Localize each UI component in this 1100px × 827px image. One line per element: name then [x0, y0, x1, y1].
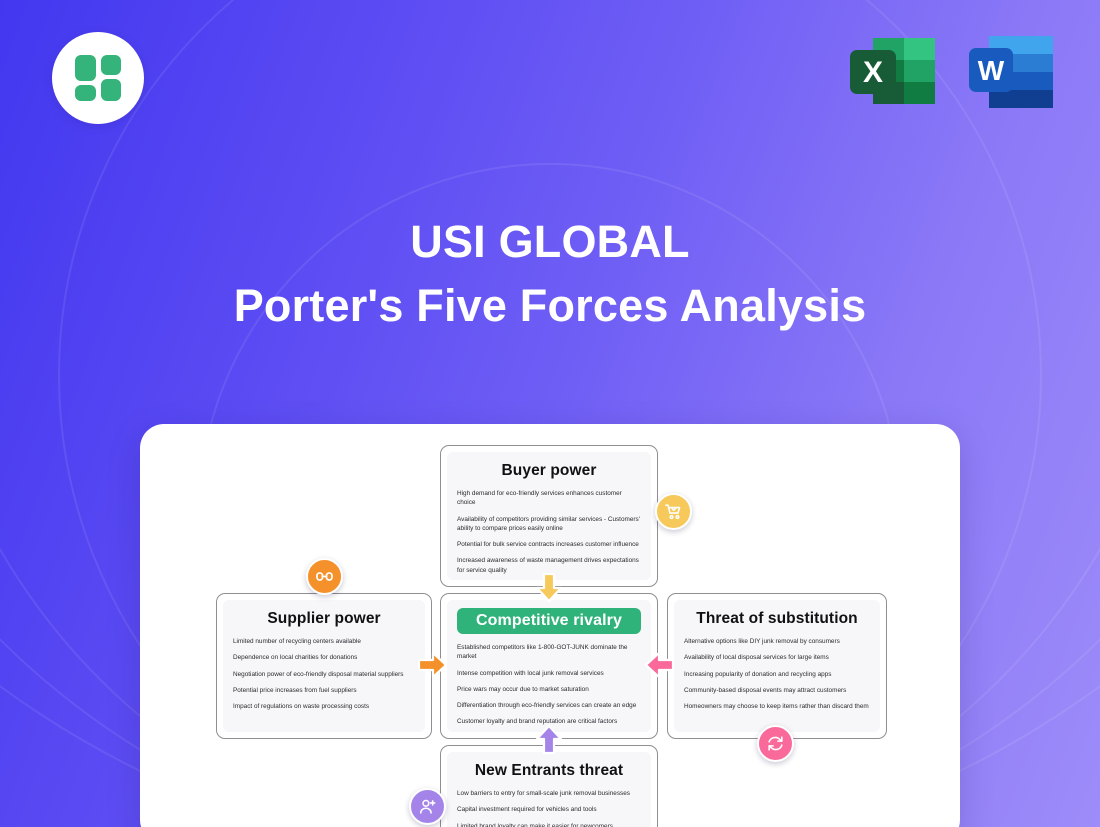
force-title-buyer: Buyer power: [457, 462, 641, 480]
force-item: Homeowners may choose to keep items rath…: [684, 702, 870, 711]
force-item: Limited brand loyalty can make it easier…: [457, 822, 641, 827]
office-icons: X W: [844, 26, 1060, 123]
title-line-2: Porter's Five Forces Analysis: [0, 280, 1100, 332]
force-item: Negotiation power of eco-friendly dispos…: [233, 670, 415, 679]
arrow-substitution-to-rivalry: [643, 650, 675, 680]
badge-substitution-refresh[interactable]: [757, 725, 794, 762]
porters-five-forces-diagram: Buyer power High demand for eco-friendly…: [140, 424, 960, 827]
force-item: Availability of competitors providing si…: [457, 515, 641, 534]
force-box-supplier-power[interactable]: Supplier power Limited number of recycli…: [216, 593, 432, 739]
link-chain-icon: [315, 567, 334, 586]
force-item: Potential for bulk service contracts inc…: [457, 540, 641, 549]
force-item: Potential price increases from fuel supp…: [233, 686, 415, 695]
force-item: Alternative options like DIY junk remova…: [684, 637, 870, 646]
force-box-buyer-power[interactable]: Buyer power High demand for eco-friendly…: [440, 445, 658, 587]
force-box-threat-of-substitution[interactable]: Threat of substitution Alternative optio…: [667, 593, 887, 739]
shopping-cart-icon: [664, 502, 683, 521]
badge-entrants-add-user[interactable]: [409, 788, 446, 825]
arrow-entrants-to-rivalry: [534, 724, 564, 756]
slide-canvas: X W USI GLOBAL Porter's Five Forces Anal…: [0, 0, 1100, 827]
refresh-sync-icon: [766, 734, 785, 753]
force-title-rivalry: Competitive rivalry: [457, 608, 641, 634]
page-title: USI GLOBAL Porter's Five Forces Analysis: [0, 216, 1100, 332]
force-box-competitive-rivalry[interactable]: Competitive rivalry Established competit…: [440, 593, 658, 739]
force-title-substitution: Threat of substitution: [684, 610, 870, 628]
force-item: Established competitors like 1-800-GOT-J…: [457, 643, 641, 662]
force-title-supplier: Supplier power: [233, 610, 415, 628]
force-item: Limited number of recycling centers avai…: [233, 637, 415, 646]
title-line-1: USI GLOBAL: [0, 216, 1100, 268]
force-item: Price wars may occur due to market satur…: [457, 685, 641, 694]
force-item: Dependence on local charities for donati…: [233, 653, 415, 662]
svg-text:X: X: [863, 56, 883, 89]
excel-icon: X: [844, 26, 941, 123]
word-icon: W: [963, 26, 1060, 123]
force-item: Impact of regulations on waste processin…: [233, 702, 415, 711]
force-item: Capital investment required for vehicles…: [457, 805, 641, 814]
force-item: Community-based disposal events may attr…: [684, 686, 870, 695]
force-title-entrants: New Entrants threat: [457, 762, 641, 780]
arrow-supplier-to-rivalry: [417, 650, 449, 680]
arrow-buyer-to-rivalry: [534, 572, 564, 604]
badge-supplier-link[interactable]: [306, 558, 343, 595]
svg-text:W: W: [978, 55, 1005, 86]
badge-buyer-cart[interactable]: [655, 493, 692, 530]
force-box-new-entrants-threat[interactable]: New Entrants threat Low barriers to entr…: [440, 745, 658, 827]
force-item: Differentiation through eco-friendly ser…: [457, 701, 641, 710]
force-item: High demand for eco-friendly services en…: [457, 489, 641, 508]
brand-logo: [52, 32, 144, 124]
force-item: Increasing popularity of donation and re…: [684, 670, 870, 679]
force-item: Low barriers to entry for small-scale ju…: [457, 789, 641, 798]
add-user-icon: [418, 797, 437, 816]
force-item: Intense competition with local junk remo…: [457, 669, 641, 678]
grid-blocks-logo-icon: [72, 52, 124, 104]
force-item: Availability of local disposal services …: [684, 653, 870, 662]
